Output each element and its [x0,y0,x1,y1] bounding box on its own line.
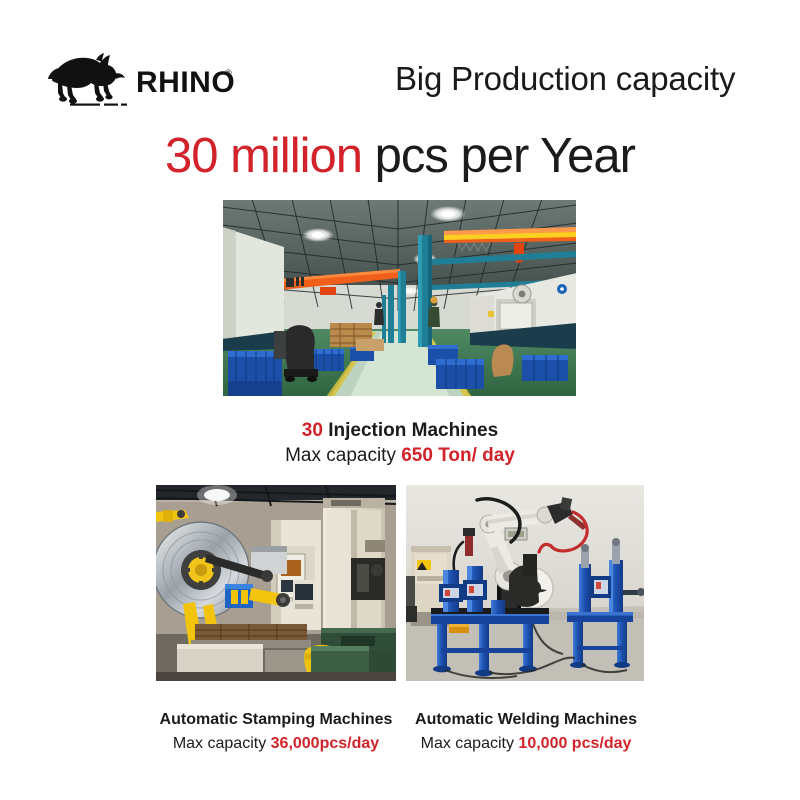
stamping-machine-photo [155,484,397,682]
caption-injection-line2: Max capacity 650 Ton/ day [200,443,600,468]
caption-welding: Automatic Welding Machines Max capacity … [398,708,654,756]
factory-interior-photo [222,199,577,397]
caption-stamping-line2: Max capacity 36,000pcs/day [140,732,412,756]
headline-amount: 30 million [165,129,362,183]
caption-injection-line1: 30 Injection Machines [200,418,600,443]
caption-stamping-line1: Automatic Stamping Machines [140,708,412,732]
poster-canvas: RHINOCEROS ® Big Production capacity 30 … [0,0,800,800]
rhinoceros-logo: RHINOCEROS ® [40,52,235,108]
caption-welding-line2: Max capacity 10,000 pcs/day [398,732,654,756]
welding-machine-photo [405,484,645,682]
logo-trademark-symbol: ® [225,68,232,78]
headline: 30 million pcs per Year [0,125,800,187]
welding-capacity-label: Max capacity [421,735,519,752]
caption-welding-line1: Automatic Welding Machines [398,708,654,732]
injection-capacity-value: 650 Ton/ day [401,445,515,466]
injection-machine-count: 30 [302,420,323,441]
page-title: Big Production capacity [395,57,765,101]
injection-capacity-label: Max capacity [285,445,401,466]
logo-wordmark: RHINOCEROS [136,66,235,99]
injection-machine-label: Injection Machines [323,420,498,441]
caption-stamping: Automatic Stamping Machines Max capacity… [140,708,412,756]
stamping-capacity-value: 36,000pcs/day [271,735,380,752]
stamping-capacity-label: Max capacity [173,735,271,752]
headline-suffix: pcs per Year [362,129,635,183]
welding-capacity-value: 10,000 pcs/day [518,735,631,752]
caption-injection: 30 Injection Machines Max capacity 650 T… [200,418,600,468]
